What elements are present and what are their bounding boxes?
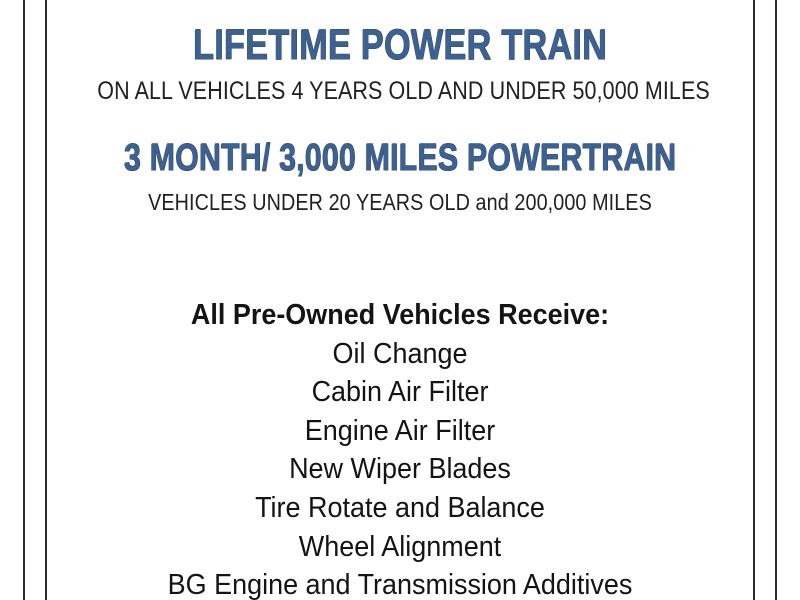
- flyer-canvas: LIFETIME POWER TRAIN ON ALL VEHICLES 4 Y…: [0, 0, 800, 600]
- services-section: All Pre-Owned Vehicles Receive: Oil Chan…: [48, 296, 752, 600]
- warranty-subline-lifetime-powertrain: ON ALL VEHICLES 4 YEARS OLD AND UNDER 50…: [97, 79, 702, 104]
- flyer-content: LIFETIME POWER TRAIN ON ALL VEHICLES 4 Y…: [48, 0, 752, 600]
- service-item: BG Engine and Transmission Additives: [73, 566, 728, 600]
- service-item: Tire Rotate and Balance: [73, 489, 728, 528]
- service-item: Cabin Air Filter: [73, 373, 728, 412]
- service-item: New Wiper Blades: [73, 450, 728, 489]
- warranty-subline-3month-powertrain: VEHICLES UNDER 20 YEARS OLD and 200,000 …: [97, 191, 702, 214]
- frame-rule-left-outer: [23, 0, 25, 600]
- service-item: Engine Air Filter: [73, 412, 728, 451]
- frame-rule-left-inner: [45, 0, 47, 600]
- warranty-headline-3month-powertrain: 3 MONTH/ 3,000 MILES POWERTRAIN: [118, 139, 681, 177]
- services-heading: All Pre-Owned Vehicles Receive:: [73, 296, 728, 335]
- service-item: Oil Change: [73, 335, 728, 374]
- frame-rule-right-outer: [775, 0, 777, 600]
- service-item: Wheel Alignment: [73, 528, 728, 567]
- frame-rule-right-inner: [753, 0, 755, 600]
- warranty-headline-lifetime-powertrain: LIFETIME POWER TRAIN: [118, 24, 681, 67]
